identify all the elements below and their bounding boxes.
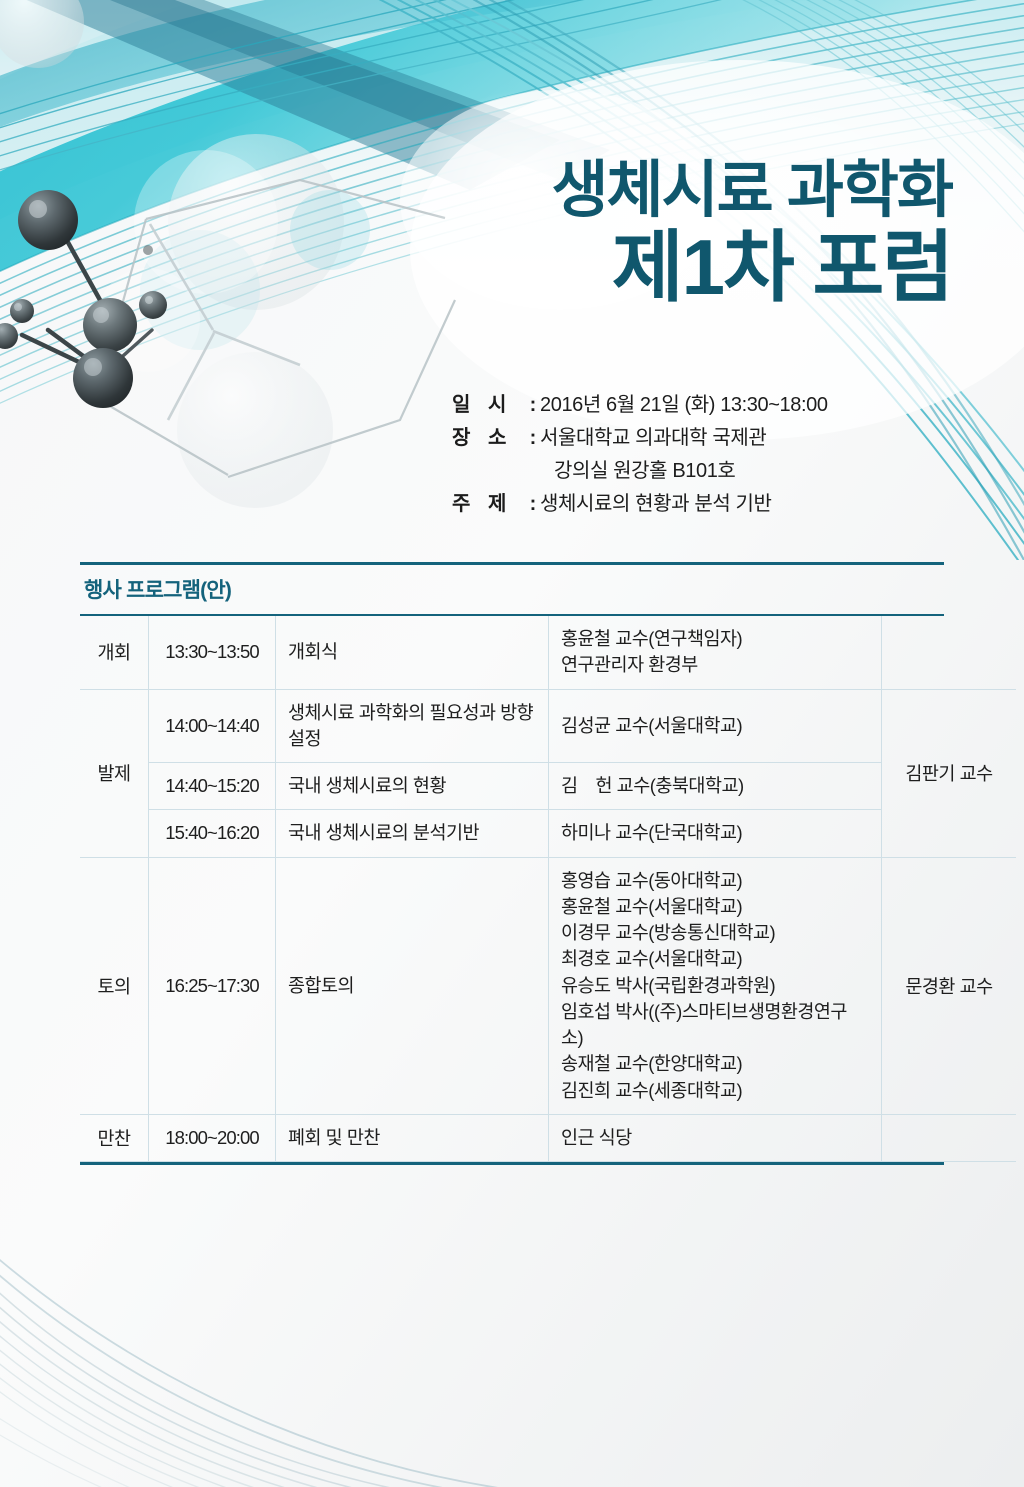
cell-category: 발제 xyxy=(80,689,149,857)
speaker-line: 김 헌 교수(충북대학교) xyxy=(561,773,869,799)
table-row: 개회 13:30~13:50 개회식 홍윤철 교수(연구책임자) 연구관리자 환… xyxy=(80,616,1016,689)
speaker-line: 연구관리자 환경부 xyxy=(561,652,869,678)
speaker-line: 하미나 교수(단국대학교) xyxy=(561,820,869,846)
cell-speakers: 하미나 교수(단국대학교) xyxy=(549,810,882,857)
detail-value-subject: 생체시료의 현황과 분석 기반 xyxy=(540,489,972,520)
cell-topic: 생체시료 과학화의 필요성과 방향 설정 xyxy=(276,689,549,763)
detail-colon-venue: : xyxy=(526,423,540,454)
speaker-line: 송재철 교수(한양대학교) xyxy=(561,1051,869,1077)
speaker-line: 김진희 교수(세종대학교) xyxy=(561,1078,869,1104)
cell-category: 개회 xyxy=(80,616,149,689)
speaker-line: 유승도 박사(국립환경과학원) xyxy=(561,973,869,999)
cell-topic: 국내 생체시료의 분석기반 xyxy=(276,810,549,857)
detail-value-datetime: 2016년 6월 21일 (화) 13:30~18:00 xyxy=(540,390,972,421)
cell-chair: 문경환 교수 xyxy=(882,857,1017,1114)
detail-label-subject: 주 제 xyxy=(452,489,526,520)
event-details: 일 시 : 2016년 6월 21일 (화) 13:30~18:00 장 소 :… xyxy=(452,390,972,522)
cell-time: 14:00~14:40 xyxy=(149,689,276,763)
speaker-line: 최경호 교수(서울대학교) xyxy=(561,946,869,972)
cell-topic: 국내 생체시료의 현황 xyxy=(276,763,549,810)
detail-label-datetime: 일 시 xyxy=(452,390,526,421)
program-heading: 행사 프로그램(안) xyxy=(80,565,944,614)
detail-value-venue: 서울대학교 의과대학 국제관 xyxy=(540,423,972,454)
cell-category: 토의 xyxy=(80,857,149,1114)
poster-canvas: 생체시료 과학화 제1차 포럼 일 시 : 2016년 6월 21일 (화) 1… xyxy=(0,0,1024,1487)
program-section: 행사 프로그램(안) 개회 13:30~13:50 개회식 홍윤철 교수(연구책… xyxy=(80,562,944,1165)
detail-colon-datetime: : xyxy=(526,390,540,421)
cell-speakers: 홍영습 교수(동아대학교) 홍윤철 교수(서울대학교) 이경무 교수(방송통신대… xyxy=(549,857,882,1114)
detail-row-venue-continued: 강의실 원강홀 B101호 xyxy=(452,456,972,487)
cell-topic: 폐회 및 만찬 xyxy=(276,1114,549,1161)
speaker-line: 임호섭 박사((주)스마티브생명환경연구소) xyxy=(561,999,869,1052)
table-row: 14:40~15:20 국내 생체시료의 현황 김 헌 교수(충북대학교) xyxy=(80,763,1016,810)
table-rule-bottom xyxy=(80,1162,944,1165)
detail-label-venue: 장 소 xyxy=(452,423,526,454)
detail-row-datetime: 일 시 : 2016년 6월 21일 (화) 13:30~18:00 xyxy=(452,390,972,421)
cell-speakers: 김성균 교수(서울대학교) xyxy=(549,689,882,763)
detail-row-subject: 주 제 : 생체시료의 현황과 분석 기반 xyxy=(452,489,972,520)
detail-colon-subject: : xyxy=(526,489,540,520)
title-line-1: 생체시료 과학화 xyxy=(332,160,952,222)
background-orbs xyxy=(0,0,370,508)
cell-chair: 김판기 교수 xyxy=(882,689,1017,857)
table-row: 15:40~16:20 국내 생체시료의 분석기반 하미나 교수(단국대학교) xyxy=(80,810,1016,857)
cell-category: 만찬 xyxy=(80,1114,149,1161)
cell-time: 14:40~15:20 xyxy=(149,763,276,810)
table-row: 토의 16:25~17:30 종합토의 홍영습 교수(동아대학교) 홍윤철 교수… xyxy=(80,857,1016,1114)
cell-chair xyxy=(882,1114,1017,1161)
cell-time: 18:00~20:00 xyxy=(149,1114,276,1161)
title-line-2: 제1차 포럼 xyxy=(332,228,952,306)
speaker-line: 이경무 교수(방송통신대학교) xyxy=(561,920,869,946)
cell-speakers: 김 헌 교수(충북대학교) xyxy=(549,763,882,810)
cell-time: 16:25~17:30 xyxy=(149,857,276,1114)
cell-chair xyxy=(882,616,1017,689)
detail-row-venue: 장 소 : 서울대학교 의과대학 국제관 xyxy=(452,423,972,454)
table-row: 만찬 18:00~20:00 폐회 및 만찬 인근 식당 xyxy=(80,1114,1016,1161)
cell-time: 15:40~16:20 xyxy=(149,810,276,857)
poster-title: 생체시료 과학화 제1차 포럼 xyxy=(332,160,952,306)
speaker-line: 인근 식당 xyxy=(561,1125,869,1151)
speaker-line: 홍영습 교수(동아대학교) xyxy=(561,868,869,894)
cell-topic: 종합토의 xyxy=(276,857,549,1114)
speaker-line: 홍윤철 교수(서울대학교) xyxy=(561,894,869,920)
detail-value-venue-continued: 강의실 원강홀 B101호 xyxy=(540,456,972,487)
cell-topic: 개회식 xyxy=(276,616,549,689)
cell-time: 13:30~13:50 xyxy=(149,616,276,689)
schedule-table: 개회 13:30~13:50 개회식 홍윤철 교수(연구책임자) 연구관리자 환… xyxy=(80,616,1016,1162)
speaker-line: 홍윤철 교수(연구책임자) xyxy=(561,626,869,652)
table-row: 발제 14:00~14:40 생체시료 과학화의 필요성과 방향 설정 김성균 … xyxy=(80,689,1016,763)
cell-speakers: 홍윤철 교수(연구책임자) 연구관리자 환경부 xyxy=(549,616,882,689)
cell-speakers: 인근 식당 xyxy=(549,1114,882,1161)
speaker-line: 김성균 교수(서울대학교) xyxy=(561,713,869,739)
